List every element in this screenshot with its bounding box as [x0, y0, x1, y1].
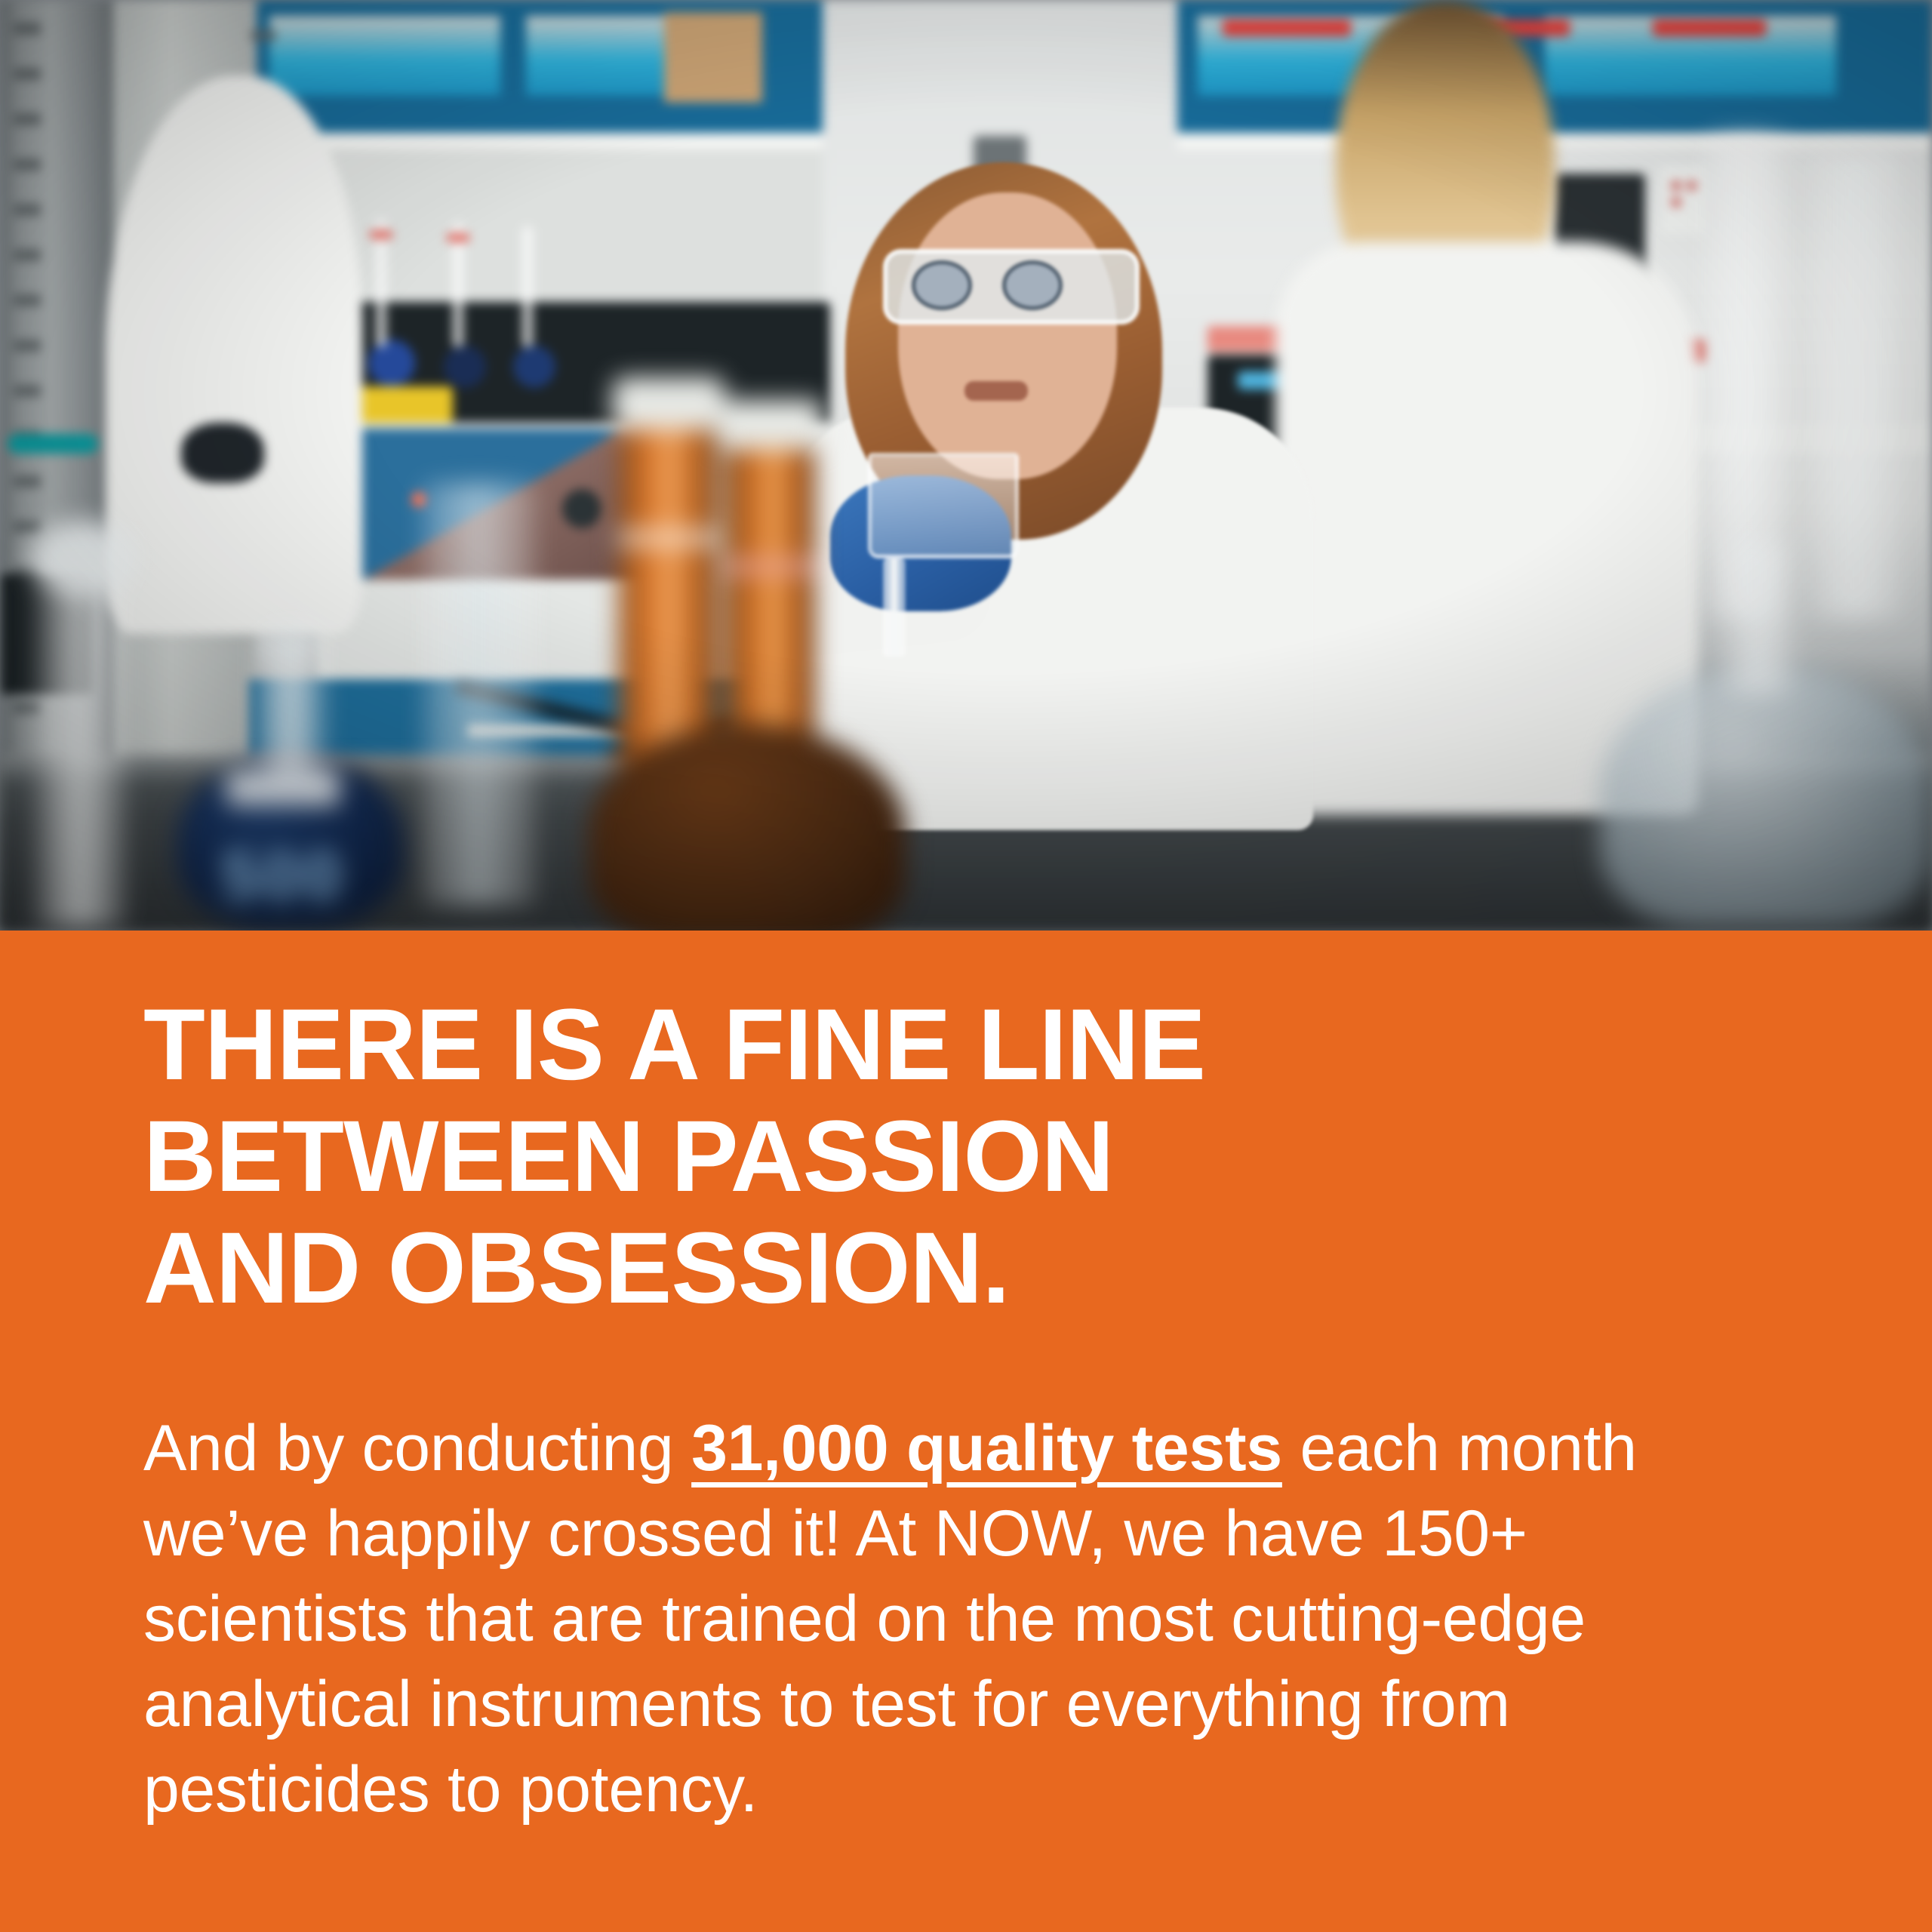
- cabinet-red-box-1: [1223, 20, 1351, 36]
- page-headline: THERE IS A FINE LINE BETWEEN PASSION AND…: [143, 989, 1751, 1324]
- wall-outlet-plate: [1660, 166, 1706, 234]
- cabinet-shelf-strip-right: [1177, 133, 1932, 149]
- headline-line-3: AND OBSESSION.: [143, 1213, 1751, 1324]
- scientist-mouth: [964, 381, 1028, 401]
- pipette-tip: [883, 558, 906, 657]
- scientist-front-face: [898, 192, 1117, 479]
- condenser-column-4: [521, 226, 534, 347]
- cabinet-glass-left: [264, 11, 506, 101]
- flask-volume-label: 500: [192, 838, 374, 915]
- laboratory-photo: 500: [0, 0, 1932, 931]
- cabinet-red-box-3: [1653, 20, 1766, 36]
- right-flask-neck: [1724, 543, 1792, 694]
- body-before-emphasis: And by conducting: [143, 1412, 691, 1484]
- marketing-poster: 500 THERE IS A FINE LINE BETWEEN PASSION…: [0, 0, 1932, 1932]
- column-marking-2: [370, 231, 392, 238]
- rail-flask-2: [368, 340, 415, 386]
- orange-content-panel: THERE IS A FINE LINE BETWEEN PASSION AND…: [0, 931, 1932, 1932]
- instrument-knob: [562, 489, 601, 528]
- outlet-indicator-3: [1672, 198, 1681, 207]
- amber-flask-large: [589, 724, 906, 931]
- amber-column-ring-1: [617, 528, 718, 548]
- rail-flask-3: [444, 346, 486, 388]
- cabinet-shelf-strip: [249, 133, 823, 149]
- headline-line-2: BETWEEN PASSION: [143, 1101, 1751, 1213]
- amber-column-1-cap: [613, 377, 724, 430]
- volumetric-flask-neck: [257, 626, 325, 777]
- body-copy: And by conducting 31,000 quality tests e…: [143, 1406, 1804, 1832]
- right-glass-cylinder-2: [1811, 151, 1902, 619]
- cabinet-carton-left: [664, 12, 762, 103]
- quality-tests-emphasis: 31,000 quality tests: [691, 1412, 1282, 1484]
- scientist-left-coat: [106, 75, 362, 634]
- beaker-center: [868, 453, 1019, 558]
- flask-label-strip: [226, 770, 340, 806]
- left-cylinder-cap: [30, 521, 136, 596]
- amber-column-ring-2: [723, 558, 817, 575]
- eyeglass-lens-left: [912, 260, 972, 310]
- outlet-indicator-2: [1687, 181, 1697, 190]
- right-flask-body: [1600, 664, 1932, 928]
- amber-column-2-cap: [718, 400, 823, 450]
- teal-label-tab-1: [8, 434, 98, 454]
- left-graduated-cylinder: [36, 574, 125, 928]
- center-glass-cylinder: [423, 483, 536, 906]
- rail-flask-4: [513, 346, 555, 388]
- column-marking-3: [447, 234, 469, 241]
- scientist-left-hand: [181, 423, 264, 483]
- headline-line-1: THERE IS A FINE LINE: [143, 989, 1751, 1101]
- eyeglass-lens-right: [1002, 260, 1063, 310]
- outlet-indicator-1: [1672, 181, 1681, 190]
